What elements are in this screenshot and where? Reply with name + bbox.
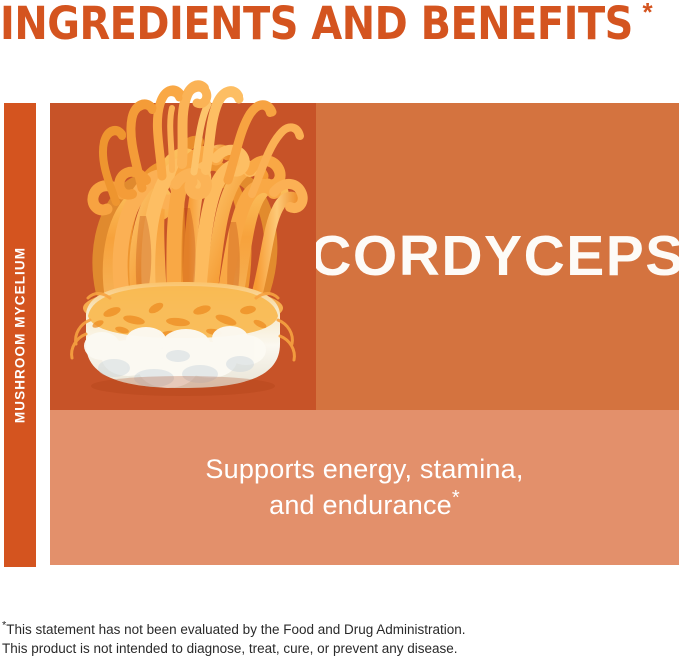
footer-line-1: *This statement has not been evaluated b… <box>2 620 602 639</box>
headline-text: INGREDIENTS AND BENEFITS <box>0 0 633 50</box>
benefit-line-1: Supports energy, stamina, <box>205 454 523 484</box>
ingredient-title-panel: CORDYCEPS <box>316 103 679 410</box>
benefit-line-2: and endurance <box>269 490 452 520</box>
ingredient-photo-panel <box>50 103 316 410</box>
page-headline: INGREDIENTS AND BENEFITS* <box>0 0 679 50</box>
footer-line-2: This product is not intended to diagnose… <box>2 639 602 658</box>
footer-disclaimer: *This statement has not been evaluated b… <box>2 620 602 658</box>
category-sidebar-label: MUSHROOM MYCELIUM <box>13 247 28 423</box>
ingredient-name: CORDYCEPS <box>310 228 679 285</box>
benefit-asterisk: * <box>452 487 460 509</box>
category-sidebar-bar: MUSHROOM MYCELIUM <box>4 103 36 567</box>
card-top-row: CORDYCEPS <box>50 103 679 410</box>
ingredient-card: CORDYCEPS Supports energy, stamina, and … <box>50 103 679 565</box>
footer-line-1-text: This statement has not been evaluated by… <box>6 622 465 637</box>
benefit-text: Supports energy, stamina, and endurance* <box>205 452 523 522</box>
headline-asterisk: * <box>643 0 653 28</box>
benefit-band: Supports energy, stamina, and endurance* <box>50 410 679 565</box>
